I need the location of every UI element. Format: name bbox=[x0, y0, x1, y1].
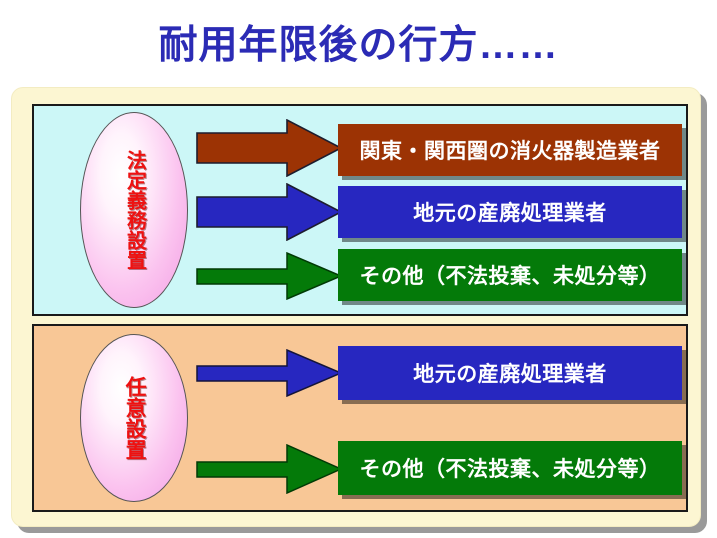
oval-voluntary-installation: 任意設置 bbox=[80, 334, 188, 502]
destination-box-waste-1-label: 地元の産廃処理業者 bbox=[413, 197, 607, 227]
arrow-to-other-1 bbox=[196, 252, 342, 300]
destination-box-waste-2: 地元の産廃処理業者 bbox=[338, 346, 682, 400]
destination-box-maker-label: 関東・関西圏の消火器製造業者 bbox=[360, 135, 661, 165]
oval-mandatory-label: 法定義務設置 bbox=[81, 113, 187, 307]
page-title: 耐用年限後の行方…… bbox=[0, 26, 717, 65]
oval-voluntary-label: 任意設置 bbox=[81, 335, 187, 501]
arrow-to-maker bbox=[196, 119, 342, 177]
arrow-to-waste-1 bbox=[196, 183, 342, 241]
arrow-to-waste-2 bbox=[196, 349, 342, 397]
destination-box-other-1: その他（不法投棄、未処分等） bbox=[338, 249, 682, 301]
destination-box-other-1-label: その他（不法投棄、未処分等） bbox=[360, 260, 661, 290]
oval-mandatory-installation: 法定義務設置 bbox=[80, 112, 188, 308]
destination-box-waste-1: 地元の産廃処理業者 bbox=[338, 186, 682, 238]
destination-box-other-2: その他（不法投棄、未処分等） bbox=[338, 441, 682, 495]
destination-box-other-2-label: その他（不法投棄、未処分等） bbox=[360, 453, 661, 483]
arrow-to-other-2 bbox=[196, 444, 342, 494]
destination-box-maker: 関東・関西圏の消火器製造業者 bbox=[338, 124, 682, 176]
destination-box-waste-2-label: 地元の産廃処理業者 bbox=[413, 358, 607, 388]
